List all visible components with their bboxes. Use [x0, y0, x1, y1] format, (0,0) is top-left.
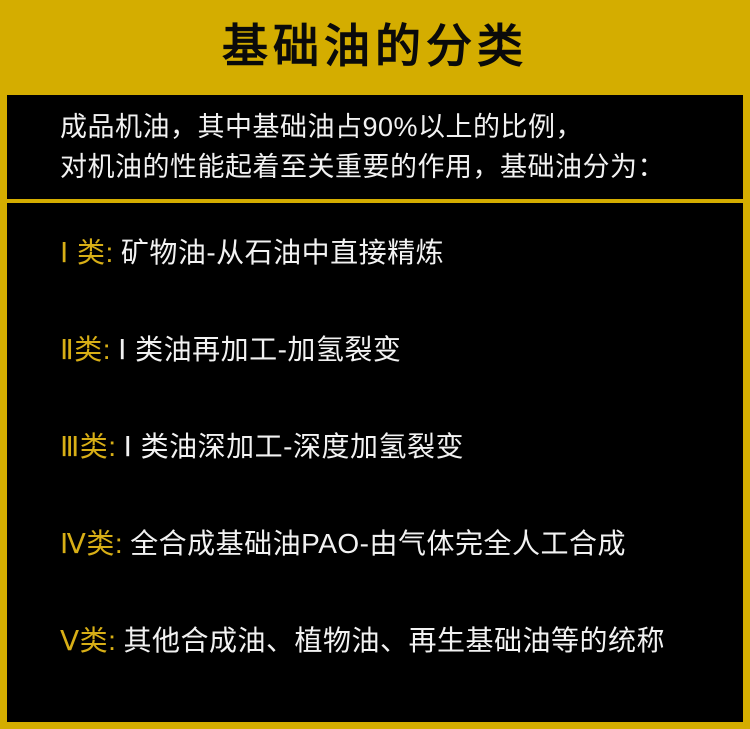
content-panel: 成品机油，其中基础油占90%以上的比例， 对机油的性能起着至关重要的作用，基础油… — [7, 95, 743, 722]
base-oil-classification-poster: 基础油的分类 成品机油，其中基础油占90%以上的比例， 对机油的性能起着至关重要… — [0, 0, 750, 729]
category-description-2: Ⅰ 类油再加工-加氢裂变 — [118, 334, 401, 366]
category-description-3: Ⅰ 类油深加工-深度加氢裂变 — [124, 431, 464, 463]
category-label-2: Ⅱ类: — [60, 334, 111, 366]
bottom-gold-edge — [0, 722, 750, 729]
category-label-4: Ⅳ类: — [60, 528, 123, 560]
title-band: 基础油的分类 — [0, 0, 750, 95]
intro-line-1: 成品机油，其中基础油占90%以上的比例， — [60, 107, 743, 147]
list-item: Ⅱ类: Ⅰ 类油再加工-加氢裂变 — [7, 334, 743, 431]
list-item: Ⅳ类: 全合成基础油PAO-由气体完全人工合成 — [7, 528, 743, 625]
list-item: Ⅴ类: 其他合成油、植物油、再生基础油等的统称 — [7, 625, 743, 722]
list-item: Ⅲ类: Ⅰ 类油深加工-深度加氢裂变 — [7, 431, 743, 528]
category-label-3: Ⅲ类: — [60, 431, 117, 463]
category-description-5: 其他合成油、植物油、再生基础油等的统称 — [123, 625, 665, 657]
category-description-4: 全合成基础油PAO-由气体完全人工合成 — [130, 528, 626, 560]
category-list: Ⅰ 类: 矿物油-从石油中直接精炼 Ⅱ类: Ⅰ 类油再加工-加氢裂变 Ⅲ类: Ⅰ… — [7, 203, 743, 722]
list-item: Ⅰ 类: 矿物油-从石油中直接精炼 — [7, 237, 743, 334]
category-description-1: 矿物油-从石油中直接精炼 — [121, 237, 444, 269]
category-label-1: Ⅰ 类: — [60, 237, 114, 269]
category-label-5: Ⅴ类: — [60, 625, 116, 657]
intro-block: 成品机油，其中基础油占90%以上的比例， 对机油的性能起着至关重要的作用，基础油… — [7, 95, 743, 199]
page-title: 基础油的分类 — [222, 23, 528, 73]
intro-line-2: 对机油的性能起着至关重要的作用，基础油分为： — [60, 147, 743, 187]
